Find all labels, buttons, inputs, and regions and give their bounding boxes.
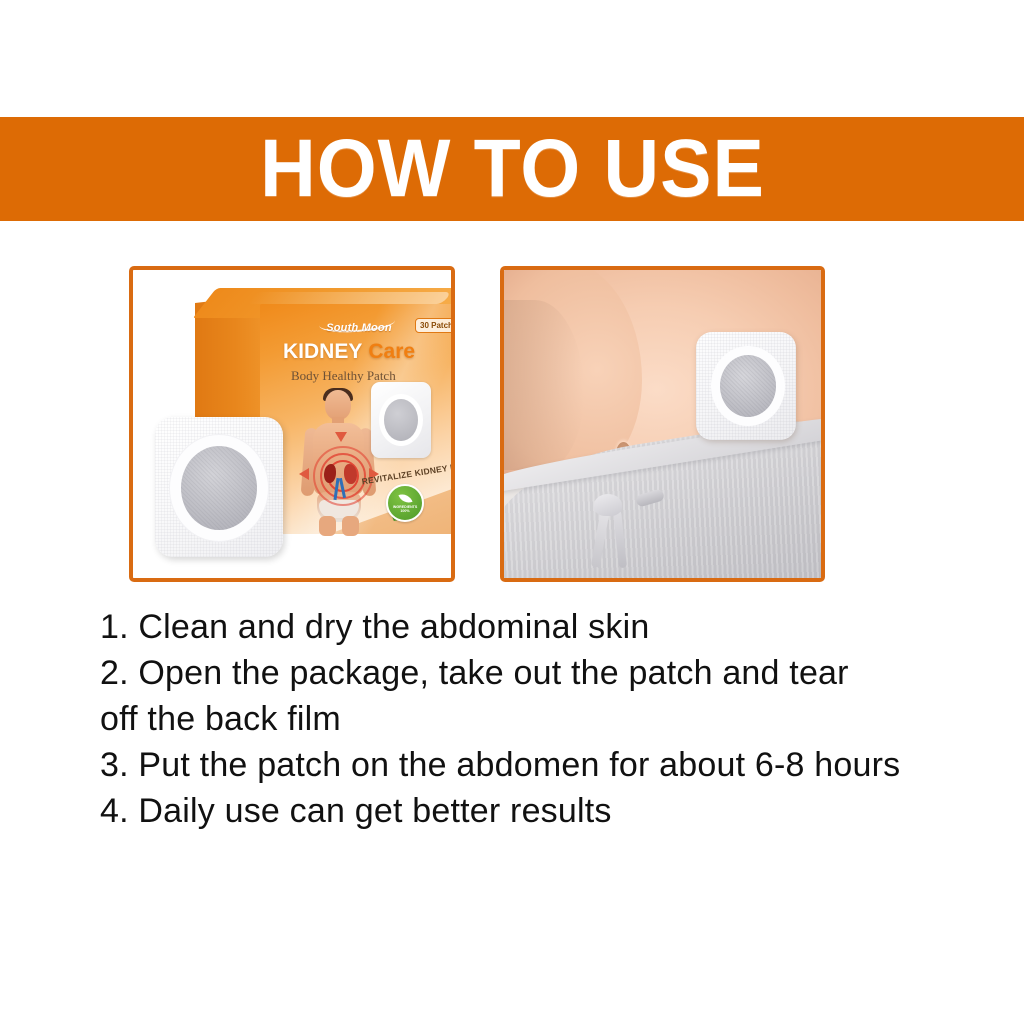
leaf-icon — [398, 491, 412, 505]
page-title: HOW TO USE — [260, 128, 765, 210]
eco-badge-line2: 100% — [400, 509, 409, 513]
header-banner: HOW TO USE — [0, 117, 1024, 221]
illustration-leg-left — [319, 516, 336, 536]
instruction-step: 2. Open the package, take out the patch … — [100, 650, 960, 696]
instruction-step: 1. Clean and dry the abdominal skin — [100, 604, 960, 650]
product-image-panel: South Moon 30 Patches KIDNEYCare Body He… — [129, 266, 455, 582]
arrow-down-icon — [335, 432, 347, 442]
package-title: KIDNEYCare — [283, 340, 455, 364]
instruction-step: 3. Put the patch on the abdomen for abou… — [100, 742, 960, 788]
package-title-primary: KIDNEY — [283, 340, 362, 363]
product-stage: South Moon 30 Patches KIDNEYCare Body He… — [133, 270, 451, 578]
loose-patch-product — [155, 417, 283, 557]
arrow-right-icon — [299, 468, 309, 480]
package-patch-illustration — [371, 382, 431, 458]
drawstring-knot — [594, 494, 622, 516]
application-image-panel — [500, 266, 825, 582]
instructions-list: 1. Clean and dry the abdominal skin 2. O… — [100, 604, 960, 834]
abdomen-photo — [504, 270, 821, 578]
illustration-head — [325, 390, 351, 420]
instruction-step: off the back film — [100, 696, 960, 742]
illustration-leg-right — [342, 516, 359, 536]
kidney-right-icon — [344, 464, 357, 484]
package-top-highlight — [246, 292, 451, 304]
instruction-step: 4. Daily use can get better results — [100, 788, 960, 834]
brand-logo-text: South Moon — [313, 317, 405, 339]
infographic-page: HOW TO USE South Moon 30 Patches KIDNEYC… — [0, 0, 1024, 1024]
applied-patch — [696, 332, 796, 440]
package-title-secondary: Care — [368, 340, 415, 363]
eco-ingredients-badge: INGREDIENTS 100% — [386, 484, 424, 522]
patch-count-badge: 30 Patches — [415, 318, 455, 333]
